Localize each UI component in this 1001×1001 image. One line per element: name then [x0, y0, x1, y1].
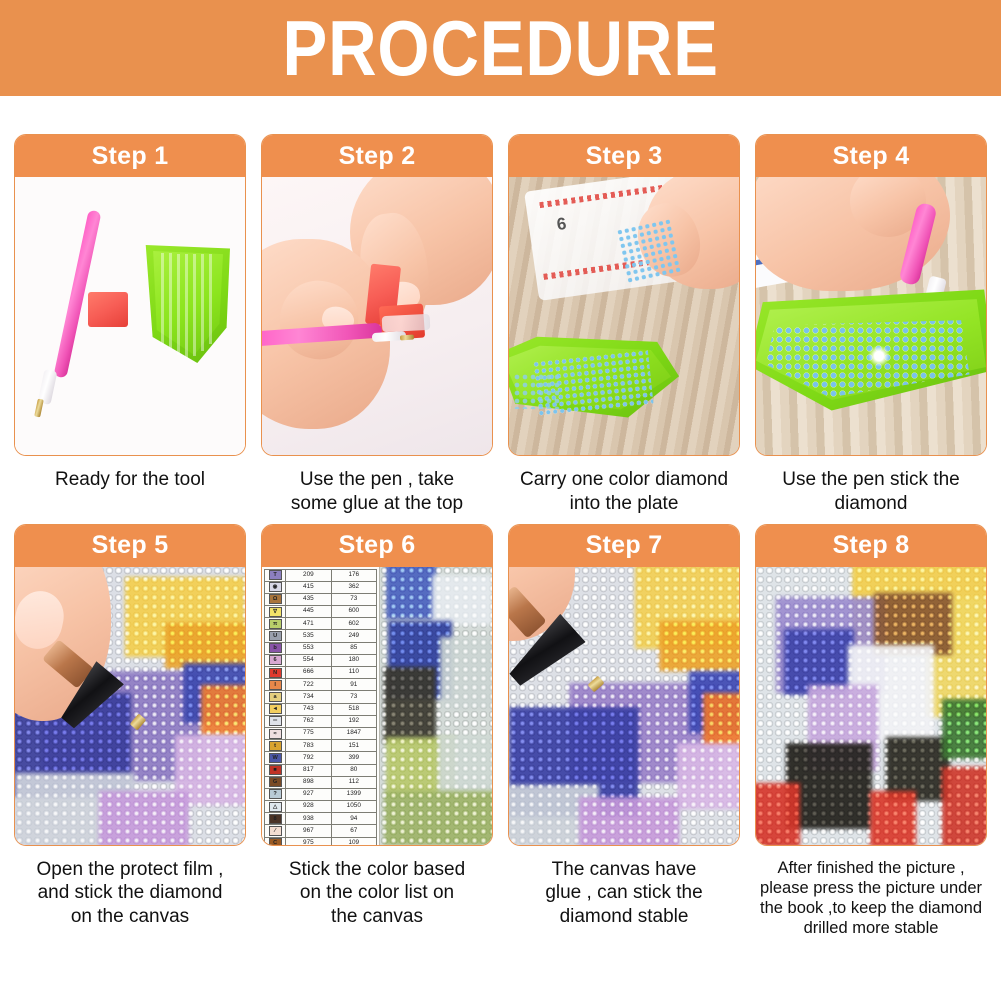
color-swatch: W — [269, 753, 282, 763]
color-count-cell: 192 — [331, 715, 376, 727]
color-swatch: 6 — [269, 655, 282, 665]
color-count-cell: 80 — [331, 764, 376, 776]
color-list-row: ◉415362 — [265, 581, 377, 593]
color-symbol-cell: N — [265, 667, 286, 679]
step-card-4-frame: Step 4 — [755, 134, 987, 456]
color-symbol-cell: 6 — [265, 654, 286, 666]
color-count-cell: 67 — [331, 825, 376, 837]
color-symbol-cell: W — [265, 752, 286, 764]
step-caption-4: Use the pen stick the diamond — [755, 468, 987, 516]
step-card-6-image: T209176◉415362Ω43573∇445600π471602U53524… — [262, 567, 492, 845]
color-list-row: ■81780 — [265, 764, 377, 776]
color-code-cell: 743 — [286, 703, 331, 715]
step-card-4-image — [756, 177, 986, 455]
color-swatch: π — [269, 619, 282, 629]
color-list-row: 6554180 — [265, 654, 377, 666]
color-code-cell: 722 — [286, 679, 331, 691]
color-swatch: t — [269, 741, 282, 751]
color-list-row: ⁄96767 — [265, 825, 377, 837]
color-swatch: ≈ — [269, 729, 282, 739]
color-swatch: а — [269, 692, 282, 702]
color-symbol-cell: ⁄ — [265, 825, 286, 837]
color-swatch: ⁄ — [269, 826, 282, 836]
color-count-cell: 518 — [331, 703, 376, 715]
color-symbol-cell: π — [265, 618, 286, 630]
color-code-cell: 209 — [286, 569, 331, 581]
color-symbol-cell: T — [265, 569, 286, 581]
color-count-cell: 110 — [331, 667, 376, 679]
step-card-2-frame: Step 2 — [261, 134, 493, 456]
step-card-5: Step 5 — [14, 524, 246, 939]
step-card-1-header: Step 1 — [15, 135, 245, 177]
color-swatch: ■ — [269, 765, 282, 775]
color-swatch: △ — [269, 802, 282, 812]
color-count-cell: 91 — [331, 679, 376, 691]
color-code-cell: 734 — [286, 691, 331, 703]
color-swatch: I — [269, 680, 282, 690]
step-card-4-header: Step 4 — [756, 135, 986, 177]
step-card-1-frame: Step 1 — [14, 134, 246, 456]
color-swatch: ∇ — [269, 607, 282, 617]
step-caption-7: The canvas have glue , can stick the dia… — [508, 858, 740, 929]
color-symbol-cell: ∇ — [265, 606, 286, 618]
color-code-cell: 967 — [286, 825, 331, 837]
color-count-cell: 73 — [331, 593, 376, 605]
color-swatch: G — [269, 777, 282, 787]
color-count-cell: 109 — [331, 837, 376, 844]
color-list-row: а73473 — [265, 691, 377, 703]
step-card-1-image — [15, 177, 245, 455]
step-caption-5: Open the protect film , and stick the di… — [14, 858, 246, 929]
step-card-2-header: Step 2 — [262, 135, 492, 177]
color-list-row: G898112 — [265, 776, 377, 788]
color-count-cell: 176 — [331, 569, 376, 581]
color-code-cell: 554 — [286, 654, 331, 666]
color-count-cell: 249 — [331, 630, 376, 642]
color-swatch: ◄ — [269, 704, 282, 714]
color-code-cell: 938 — [286, 813, 331, 825]
color-count-cell: 600 — [331, 606, 376, 618]
step-card-2: Step 2 — [261, 134, 493, 516]
color-list-row: π471602 — [265, 618, 377, 630]
color-swatch: N — [269, 668, 282, 678]
step-card-1: Step 1 — [14, 134, 246, 516]
color-count-cell: 399 — [331, 752, 376, 764]
color-symbol-cell: C — [265, 837, 286, 844]
color-count-cell: 1847 — [331, 727, 376, 739]
step-card-3-header: Step 3 — [509, 135, 739, 177]
color-list-row: Ω43573 — [265, 593, 377, 605]
color-symbol-cell: ◄ — [265, 703, 286, 715]
step-card-3-image: 6 — [509, 177, 739, 455]
color-code-cell: 553 — [286, 642, 331, 654]
color-code-cell: 445 — [286, 606, 331, 618]
color-list-row: W792399 — [265, 752, 377, 764]
step-card-3-frame: Step 3 6 — [508, 134, 740, 456]
color-symbol-cell: U — [265, 630, 286, 642]
color-list-row: ═762192 — [265, 715, 377, 727]
step-card-2-image — [262, 177, 492, 455]
step-card-3: Step 3 6 — [508, 134, 740, 516]
steps-grid: Step 1 — [14, 134, 987, 938]
color-symbol-cell: ═ — [265, 715, 286, 727]
step-card-7-header: Step 7 — [509, 525, 739, 567]
step-card-6: Step 6 — [261, 524, 493, 939]
color-symbol-cell: t — [265, 740, 286, 752]
color-code-cell: 435 — [286, 593, 331, 605]
color-symbol-cell: 8 — [265, 813, 286, 825]
color-code-cell: 783 — [286, 740, 331, 752]
color-count-cell: 1399 — [331, 788, 376, 800]
color-code-cell: 762 — [286, 715, 331, 727]
color-swatch: T — [269, 570, 282, 580]
color-symbol-cell: I — [265, 679, 286, 691]
color-list-row: ≈7751847 — [265, 727, 377, 739]
color-count-cell: 73 — [331, 691, 376, 703]
color-count-cell: 1050 — [331, 801, 376, 813]
color-code-cell: 928 — [286, 801, 331, 813]
color-count-cell: 602 — [331, 618, 376, 630]
color-list-table: T209176◉415362Ω43573∇445600π471602U53524… — [262, 567, 380, 845]
color-list-row: b55385 — [265, 642, 377, 654]
step-caption-1: Ready for the tool — [14, 468, 246, 492]
step-card-8-image — [756, 567, 986, 845]
color-swatch: b — [269, 643, 282, 653]
color-code-cell: 666 — [286, 667, 331, 679]
step-caption-6: Stick the color based on the color list … — [261, 858, 493, 929]
color-list: T209176◉415362Ω43573∇445600π471602U53524… — [264, 569, 377, 845]
color-list-row: ?9271399 — [265, 788, 377, 800]
color-list-row: N666110 — [265, 667, 377, 679]
color-code-cell: 775 — [286, 727, 331, 739]
color-list-row: I72291 — [265, 679, 377, 691]
color-list-body: T209176◉415362Ω43573∇445600π471602U53524… — [265, 569, 377, 845]
step-card-6-header: Step 6 — [262, 525, 492, 567]
step-card-8: Step 8 — [755, 524, 987, 939]
color-count-cell: 180 — [331, 654, 376, 666]
procedure-infographic: PROCEDURE Step 1 — [0, 0, 1001, 1001]
step-caption-8: After finished the picture , please pres… — [755, 858, 987, 939]
step-card-7-image — [509, 567, 739, 845]
color-code-cell: 535 — [286, 630, 331, 642]
step-card-5-frame: Step 5 — [14, 524, 246, 846]
color-symbol-cell: Ω — [265, 593, 286, 605]
color-count-cell: 94 — [331, 813, 376, 825]
color-symbol-cell: ◉ — [265, 581, 286, 593]
color-list-row: ∇445600 — [265, 606, 377, 618]
step-card-4: Step 4 — [755, 134, 987, 516]
color-list-row: △9281050 — [265, 801, 377, 813]
color-list-row: T209176 — [265, 569, 377, 581]
color-symbol-cell: ≈ — [265, 727, 286, 739]
step-card-8-header: Step 8 — [756, 525, 986, 567]
step-card-5-image — [15, 567, 245, 845]
color-code-cell: 471 — [286, 618, 331, 630]
color-list-row: 893894 — [265, 813, 377, 825]
color-count-cell: 151 — [331, 740, 376, 752]
color-code-cell: 975 — [286, 837, 331, 844]
color-symbol-cell: b — [265, 642, 286, 654]
color-code-cell: 817 — [286, 764, 331, 776]
color-swatch: ═ — [269, 716, 282, 726]
step-card-7-frame: Step 7 — [508, 524, 740, 846]
color-code-cell: 415 — [286, 581, 331, 593]
color-symbol-cell: ■ — [265, 764, 286, 776]
color-list-row: t783151 — [265, 740, 377, 752]
color-swatch: U — [269, 631, 282, 641]
step-caption-3: Carry one color diamond into the plate — [508, 468, 740, 516]
color-swatch: Ω — [269, 594, 282, 604]
step-card-5-header: Step 5 — [15, 525, 245, 567]
color-swatch: ◉ — [269, 582, 282, 592]
color-symbol-cell: а — [265, 691, 286, 703]
color-list-row: U535249 — [265, 630, 377, 642]
color-swatch: ? — [269, 789, 282, 799]
color-code-cell: 927 — [286, 788, 331, 800]
step-card-8-frame: Step 8 — [755, 524, 987, 846]
color-swatch: 8 — [269, 814, 282, 824]
color-count-cell: 85 — [331, 642, 376, 654]
color-symbol-cell: △ — [265, 801, 286, 813]
color-code-cell: 792 — [286, 752, 331, 764]
color-symbol-cell: ? — [265, 788, 286, 800]
color-swatch: C — [269, 838, 282, 844]
color-code-cell: 898 — [286, 776, 331, 788]
color-list-row: C975109 — [265, 837, 377, 844]
step-caption-2: Use the pen , take some glue at the top — [261, 468, 493, 516]
color-symbol-cell: G — [265, 776, 286, 788]
page-title: PROCEDURE — [282, 9, 718, 87]
color-count-cell: 362 — [331, 581, 376, 593]
page-banner: PROCEDURE — [0, 0, 1001, 96]
step-card-7: Step 7 — [508, 524, 740, 939]
color-count-cell: 112 — [331, 776, 376, 788]
step-card-6-frame: Step 6 — [261, 524, 493, 846]
color-list-row: ◄743518 — [265, 703, 377, 715]
